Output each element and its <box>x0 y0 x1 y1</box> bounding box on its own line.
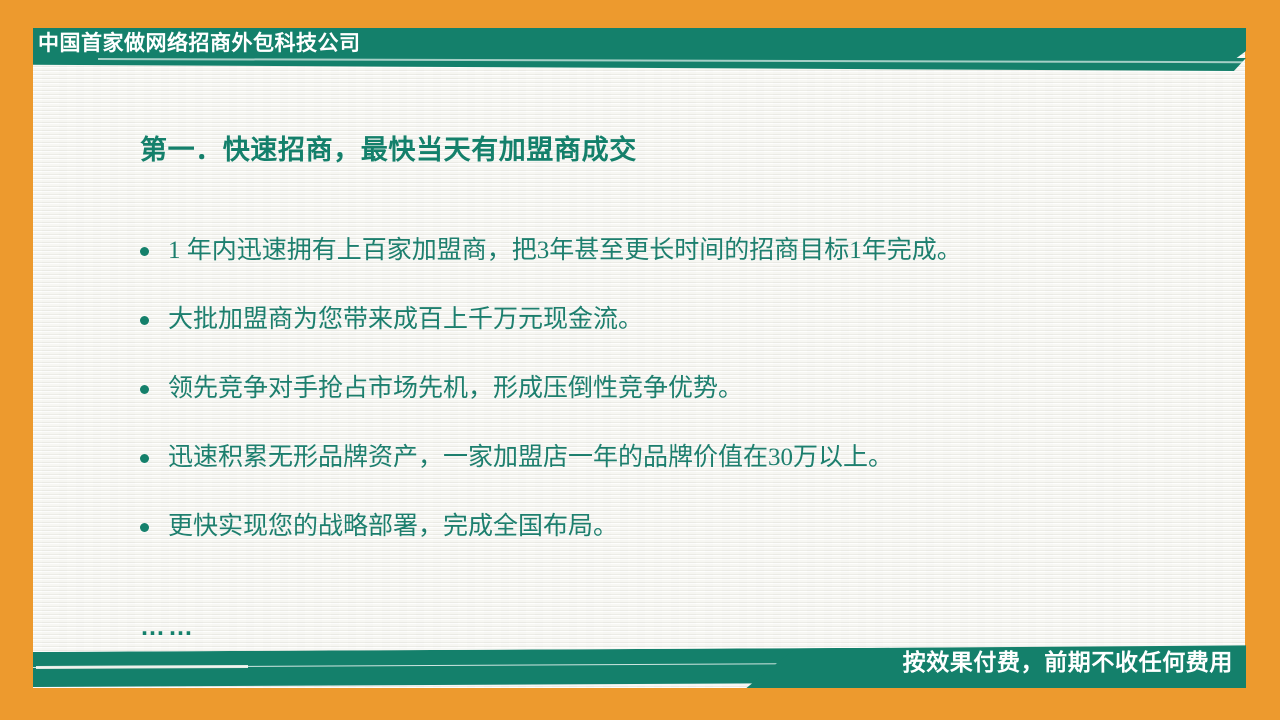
list-item-text: 1 年内迅速拥有上百家加盟商，把3年甚至更长时间的招商目标1年完成。 <box>168 232 962 270</box>
list-item: 领先竞争对手抢占市场先机，形成压倒性竞争优势。 <box>140 370 1210 408</box>
footer-tagline: 按效果付费，前期不收任何费用 <box>903 646 1233 678</box>
presentation-slide: 中国首家做网络招商外包科技公司 第一．快速招商，最快当天有加盟商成交 1 年内迅… <box>0 0 1280 720</box>
list-item: 迅速积累无形品牌资产，一家加盟店一年的品牌价值在30万以上。 <box>140 439 1210 477</box>
list-item-text: 更快实现您的战略部署，完成全国布局。 <box>168 508 618 546</box>
bullet-list: 1 年内迅速拥有上百家加盟商，把3年甚至更长时间的招商目标1年完成。 大批加盟商… <box>140 232 1210 577</box>
bullet-dot-icon <box>140 385 149 394</box>
list-item-text: 大批加盟商为您带来成百上千万元现金流。 <box>168 301 643 339</box>
bullet-dot-icon <box>140 247 149 256</box>
list-item-text: 领先竞争对手抢占市场先机，形成压倒性竞争优势。 <box>168 370 743 408</box>
section-heading: 第一．快速招商，最快当天有加盟商成交 <box>140 128 637 167</box>
bullet-dot-icon <box>140 454 149 463</box>
list-item-text: 迅速积累无形品牌资产，一家加盟店一年的品牌价值在30万以上。 <box>168 439 893 477</box>
continuation-ellipsis: …… <box>140 612 196 642</box>
header-title: 中国首家做网络招商外包科技公司 <box>38 29 361 59</box>
list-item: 更快实现您的战略部署，完成全国布局。 <box>140 508 1210 546</box>
list-item: 大批加盟商为您带来成百上千万元现金流。 <box>140 301 1210 339</box>
list-item: 1 年内迅速拥有上百家加盟商，把3年甚至更长时间的招商目标1年完成。 <box>140 232 1210 270</box>
bullet-dot-icon <box>140 523 149 532</box>
bullet-dot-icon <box>140 316 149 325</box>
